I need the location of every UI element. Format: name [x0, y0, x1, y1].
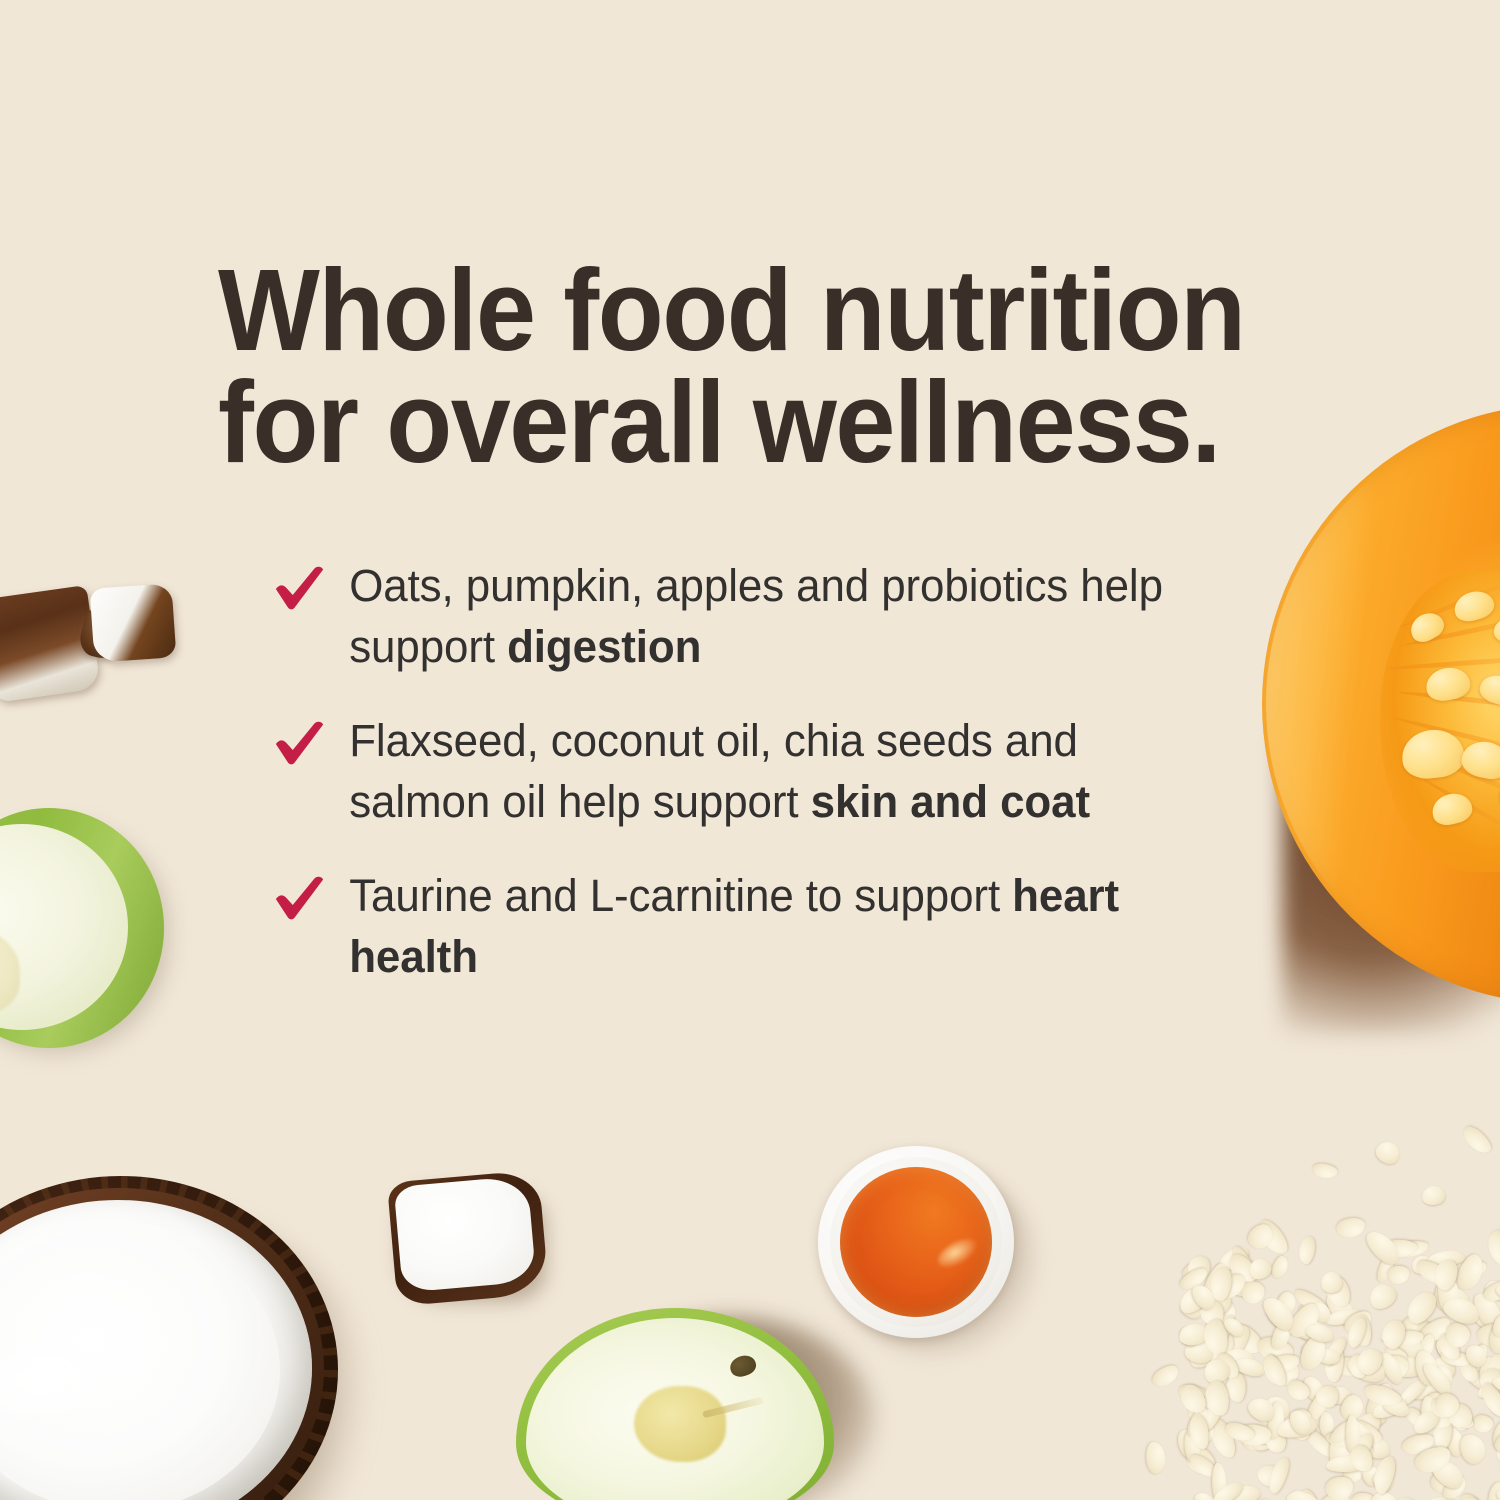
oat-flake: [1371, 1453, 1399, 1496]
oil-bowl-image: [818, 1146, 1034, 1358]
benefit-emphasis: digestion: [507, 621, 701, 672]
coconut-half-image: [0, 1176, 374, 1500]
pumpkin-half-image: [1262, 404, 1500, 1044]
benefit-item: Flaxseed, coconut oil, chia seeds and sa…: [272, 711, 1198, 832]
check-icon: [272, 717, 326, 769]
coconut-chunk-wedge-image: [92, 586, 174, 660]
coconut-chunk-wedge: [90, 583, 177, 663]
oat-flake: [1311, 1162, 1338, 1180]
apple-half-core: [634, 1386, 726, 1462]
headline-line-1: Whole food nutrition: [218, 254, 1260, 367]
oat-flake: [1472, 1413, 1495, 1434]
oats-pile-image: [1130, 1118, 1500, 1500]
headline-line-2: for overall wellness.: [218, 366, 1260, 479]
oat-flake: [1270, 1254, 1291, 1280]
oat-flake: [1459, 1123, 1495, 1158]
benefit-body: Taurine and L-carnitine to support: [349, 870, 1012, 921]
apple-wedge-image: [0, 808, 164, 1048]
oat-flake: [1298, 1236, 1317, 1266]
oat-flake: [1421, 1184, 1447, 1206]
benefits-list: Oats, pumpkin, apples and probiotics hel…: [272, 556, 1232, 987]
benefit-text: Oats, pumpkin, apples and probiotics hel…: [349, 556, 1198, 677]
benefit-text: Flaxseed, coconut oil, chia seeds and sa…: [349, 711, 1198, 832]
benefit-emphasis: skin and coat: [811, 776, 1090, 827]
oat-flake: [1484, 1228, 1500, 1268]
benefit-item: Oats, pumpkin, apples and probiotics hel…: [272, 556, 1198, 677]
oat-flake: [1145, 1441, 1167, 1474]
oat-flake: [1316, 1385, 1338, 1408]
promo-canvas: Whole food nutrition for overall wellnes…: [0, 0, 1500, 1500]
oat-flake: [1373, 1138, 1403, 1167]
benefit-item: Taurine and L-carnitine to support heart…: [272, 866, 1198, 987]
oat-flake: [1150, 1362, 1182, 1391]
page-title: Whole food nutrition for overall wellnes…: [218, 254, 1260, 479]
check-icon: [272, 562, 326, 614]
oat-flake: [1335, 1216, 1367, 1240]
oat-flake: [1284, 1486, 1326, 1500]
oat-flake: [1387, 1264, 1411, 1285]
coconut-white-chunk-image: [392, 1176, 544, 1300]
benefit-body: Oats, pumpkin, apples and probiotics hel…: [349, 560, 1163, 672]
check-icon: [272, 872, 326, 924]
coconut-white-chunk-flesh: [394, 1175, 537, 1292]
benefit-text: Taurine and L-carnitine to support heart…: [349, 866, 1198, 987]
apple-half-image: [516, 1308, 846, 1500]
